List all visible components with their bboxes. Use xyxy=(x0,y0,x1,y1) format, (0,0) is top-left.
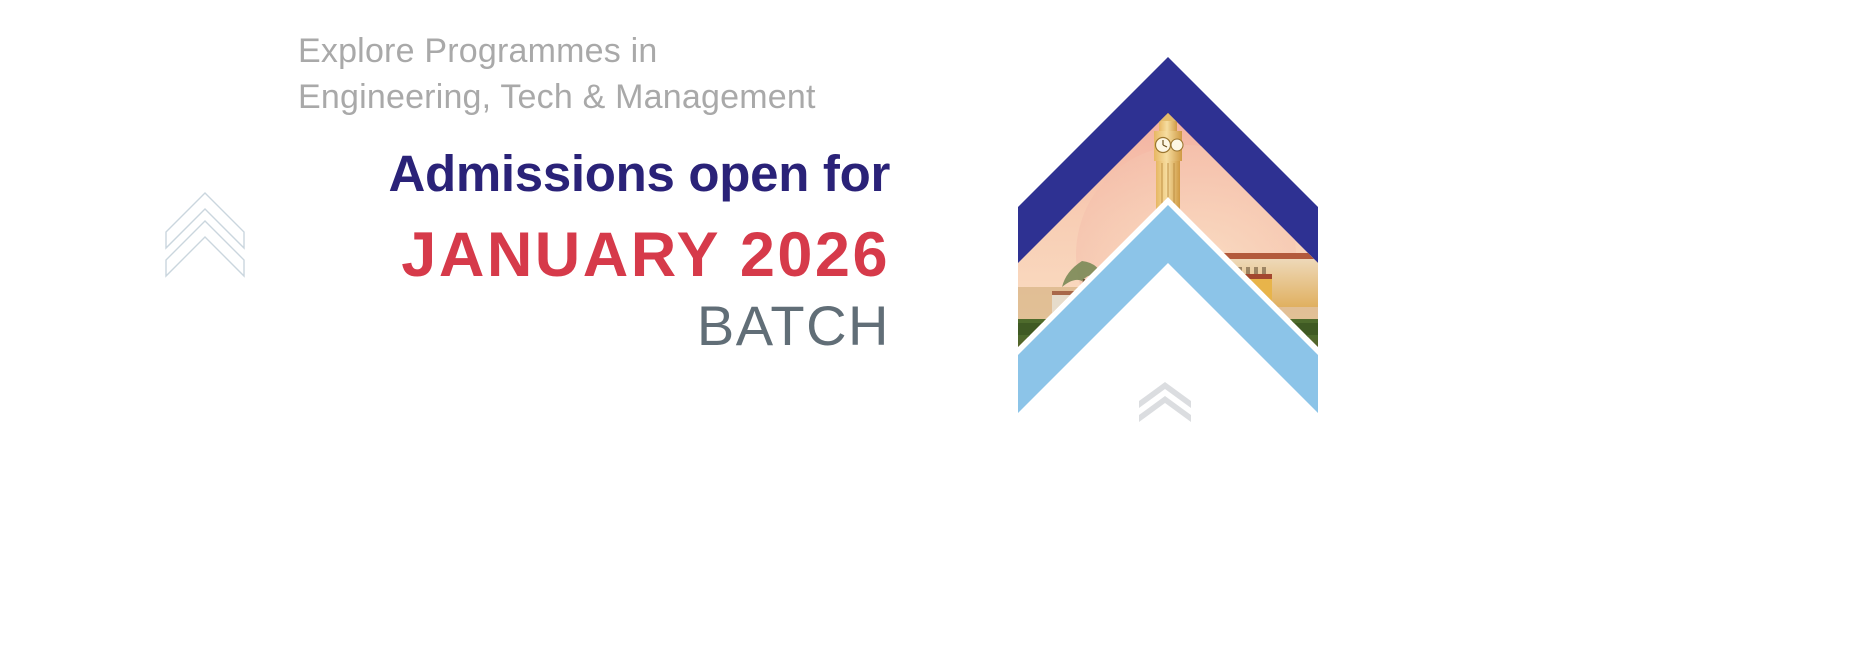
promo-subtitle-line-2: Engineering, Tech & Management xyxy=(298,74,890,120)
promo-subtitle-line-1: Explore Programmes in xyxy=(298,28,890,74)
double-chevron-up-icon xyxy=(1138,381,1192,423)
promo-text-block: Explore Programmes in Engineering, Tech … xyxy=(150,28,890,358)
promo-subtitle: Explore Programmes in Engineering, Tech … xyxy=(298,28,890,120)
promo-batch-label: BATCH xyxy=(150,294,890,358)
admissions-banner: Explore Programmes in Engineering, Tech … xyxy=(0,0,1873,651)
promo-batch-highlight: JANUARY 2026 xyxy=(150,220,890,290)
campus-chevron-graphic xyxy=(1016,55,1320,415)
promo-headline: Admissions open for xyxy=(150,142,890,206)
